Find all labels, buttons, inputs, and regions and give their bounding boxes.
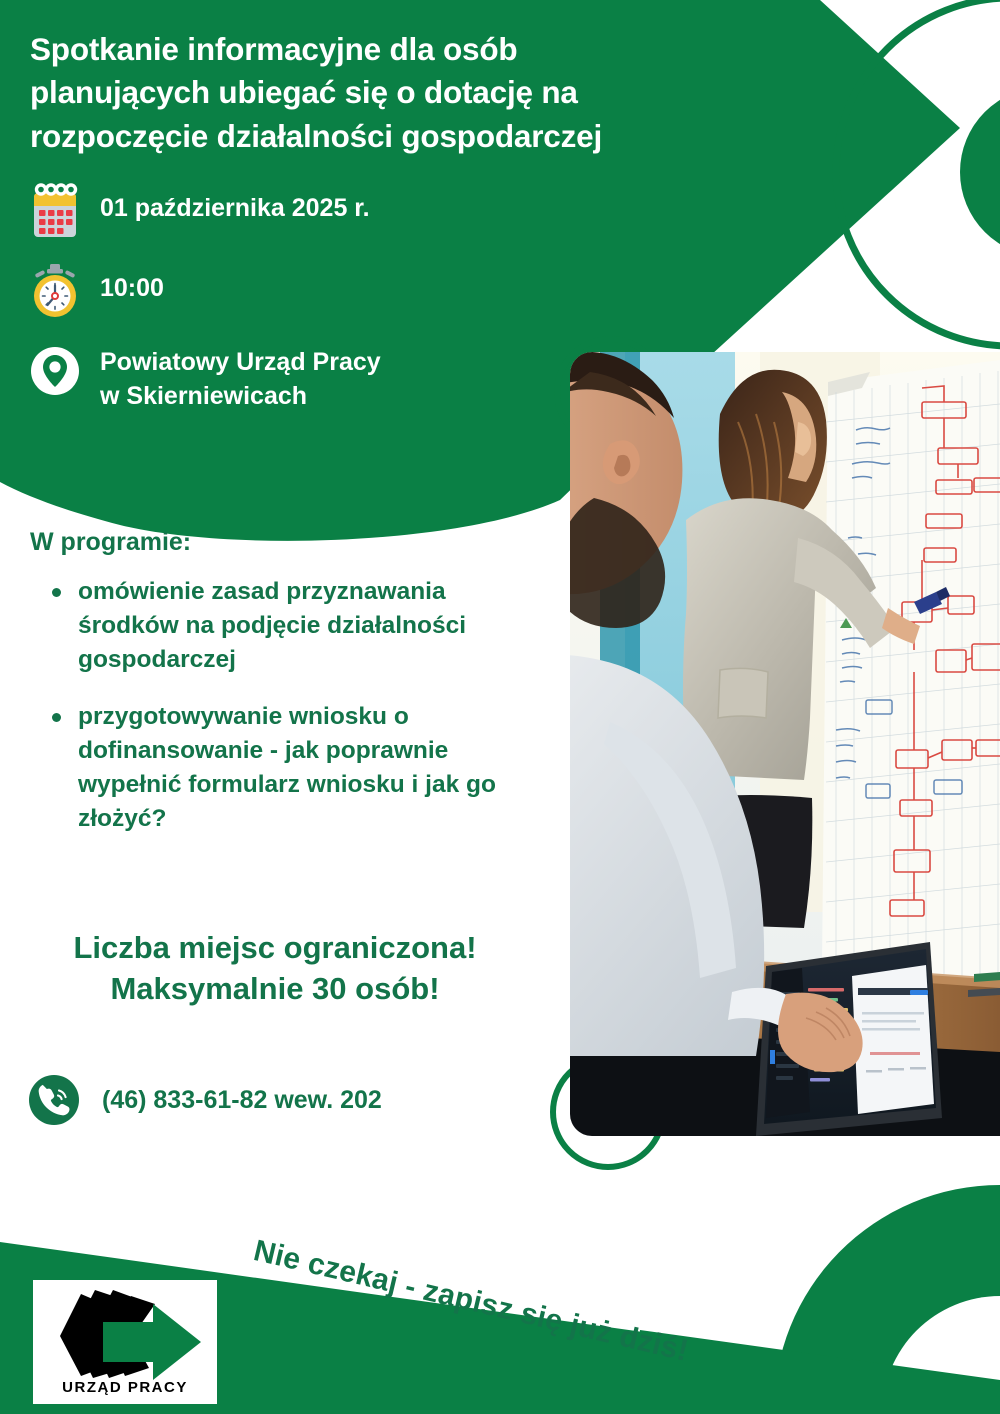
stopwatch-icon <box>26 262 84 320</box>
page-title-line-3: rozpoczęcie działalności gospodarczej <box>30 115 690 158</box>
list-item: przygotowywanie wniosku o dofinansowanie… <box>52 700 550 835</box>
seats-limit-line-2: Maksymalnie 30 osób! <box>30 969 520 1010</box>
event-time-row: 10:00 <box>26 262 646 320</box>
event-date-row: 01 października 2025 r. <box>26 182 646 240</box>
contact-phone-row[interactable]: (46) 833-61-82 wew. 202 <box>26 1072 382 1128</box>
event-info-list: 01 października 2025 r. <box>26 182 646 436</box>
location-pin-icon <box>26 342 84 400</box>
event-location-line-2: w Skierniewicach <box>100 382 307 410</box>
top-right-filled-circle <box>960 87 1000 257</box>
event-location-value: Powiatowy Urząd Pracy w Skierniewicach <box>84 342 381 414</box>
logo-caption: URZĄD PRACY <box>62 1379 188 1396</box>
meeting-photo <box>570 352 1000 1136</box>
page-title: Spotkanie informacyjne dla osób planując… <box>30 28 690 158</box>
seats-limit-line-1: Liczba miejsc ograniczona! <box>30 928 520 969</box>
page-title-line-1: Spotkanie informacyjne dla osób <box>30 28 690 71</box>
list-item: omówienie zasad przyznawania środków na … <box>52 575 550 676</box>
poster-root: Spotkanie informacyjne dla osób planując… <box>0 0 1000 1414</box>
program-list: omówienie zasad przyznawania środków na … <box>30 575 550 836</box>
contact-phone-value: (46) 833-61-82 wew. 202 <box>82 1086 382 1115</box>
event-location-line-1: Powiatowy Urząd Pracy <box>100 348 381 376</box>
program-heading: W programie: <box>30 528 550 557</box>
event-time-value: 10:00 <box>84 262 164 306</box>
page-title-line-2: planujących ubiegać się o dotację na <box>30 71 690 114</box>
seats-limit-notice: Liczba miejsc ograniczona! Maksymalnie 3… <box>30 928 520 1010</box>
program-section: W programie: omówienie zasad przyznawani… <box>30 528 550 860</box>
event-location-row: Powiatowy Urząd Pracy w Skierniewicach <box>26 342 646 414</box>
urzad-pracy-logo: URZĄD PRACY <box>33 1280 217 1404</box>
calendar-icon <box>26 182 84 240</box>
event-date-value: 01 października 2025 r. <box>84 182 370 226</box>
phone-icon <box>26 1072 82 1128</box>
